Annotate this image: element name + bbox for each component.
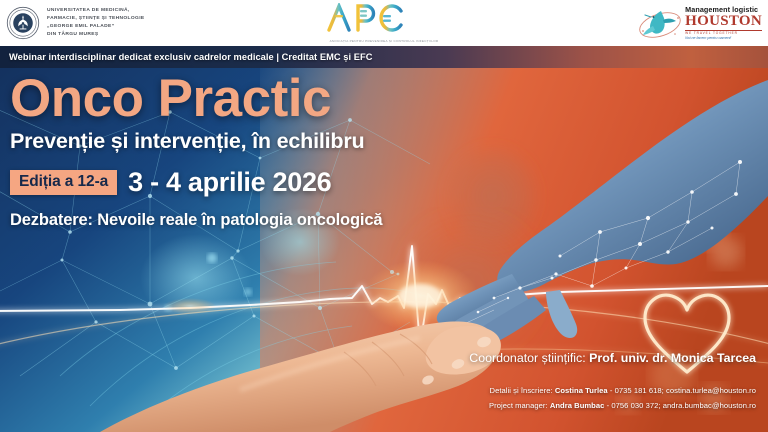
university-name: UNIVERSITATEA DE MEDICINĂ, FARMACIE, ȘTI… — [47, 7, 145, 39]
contact-pm-name: Andra Bumbac — [550, 401, 605, 410]
university-line-3: „GEORGE EMIL PALADE” — [47, 23, 145, 31]
university-seal-icon — [6, 6, 40, 40]
apci-subtitle: ASOCIAȚIA PENTRU PREVENIREA ȘI CONTROLUL… — [325, 39, 443, 43]
contact-pm-details[interactable]: - 0756 030 372; andra.bumbac@houston.ro — [607, 401, 756, 410]
strap-text: Webinar interdisciplinar dedicat exclusi… — [0, 52, 373, 62]
hummingbird-icon — [637, 4, 683, 42]
university-line-4: DIN TÂRGU MUREȘ — [47, 31, 145, 39]
houston-brand-name: HOUSTON — [685, 14, 762, 29]
edition-date-row: Ediția a 12-a 3 - 4 aprilie 2026 — [10, 167, 480, 198]
houston-tagline: WE TRAVEL TOGETHER — [685, 32, 762, 35]
poster-root: UNIVERSITATEA DE MEDICINĂ, FARMACIE, ȘTI… — [0, 0, 768, 432]
logo-header: UNIVERSITATEA DE MEDICINĂ, FARMACIE, ȘTI… — [0, 0, 768, 46]
houston-wordmark: Management logistic HOUSTON WE TRAVEL TO… — [685, 6, 762, 41]
contact-registration-label: Detalii și înscriere: — [490, 386, 553, 395]
event-debate-topic: Dezbatere: Nevoile reale în patologia on… — [10, 211, 480, 230]
contact-project-manager: Project manager: Andra Bumbac - 0756 030… — [489, 401, 756, 410]
edition-badge: Ediția a 12-a — [10, 170, 117, 195]
apci-wordmark-icon — [325, 3, 443, 33]
university-logo: UNIVERSITATEA DE MEDICINĂ, FARMACIE, ȘTI… — [0, 6, 145, 40]
contact-block: Detalii și înscriere: Costina Turlea - 0… — [489, 386, 756, 416]
university-line-1: UNIVERSITATEA DE MEDICINĂ, — [47, 7, 145, 15]
event-subtitle: Prevenție și intervenție, în echilibru — [10, 129, 480, 154]
contact-registration-details[interactable]: - 0735 181 618; costina.turlea@houston.r… — [610, 386, 756, 395]
houston-slogan: Noi ne facem pentru oameni! — [685, 37, 762, 41]
university-line-2: FARMACIE, ȘTIINȚE ȘI TEHNOLOGIE — [47, 15, 145, 23]
coordinator-line: Coordonator științific: Prof. univ. dr. … — [469, 351, 756, 365]
event-title: Onco Practic — [10, 74, 480, 125]
event-dates: 3 - 4 aprilie 2026 — [128, 167, 331, 198]
event-copy: Onco Practic Prevenție și intervenție, î… — [0, 68, 480, 230]
strap-banner: Webinar interdisciplinar dedicat exclusi… — [0, 46, 768, 68]
contact-registration-name: Costina Turlea — [555, 386, 608, 395]
coordinator-label: Coordonator științific: — [469, 351, 585, 365]
contact-pm-label: Project manager: — [489, 401, 548, 410]
contact-registration: Detalii și înscriere: Costina Turlea - 0… — [489, 386, 756, 395]
apci-logo: ASOCIAȚIA PENTRU PREVENIREA ȘI CONTROLUL… — [325, 3, 443, 43]
houston-logo: Management logistic HOUSTON WE TRAVEL TO… — [637, 4, 762, 42]
houston-management-label: Management logistic — [685, 6, 762, 13]
coordinator-name: Prof. univ. dr. Monica Tarcea — [589, 351, 756, 365]
